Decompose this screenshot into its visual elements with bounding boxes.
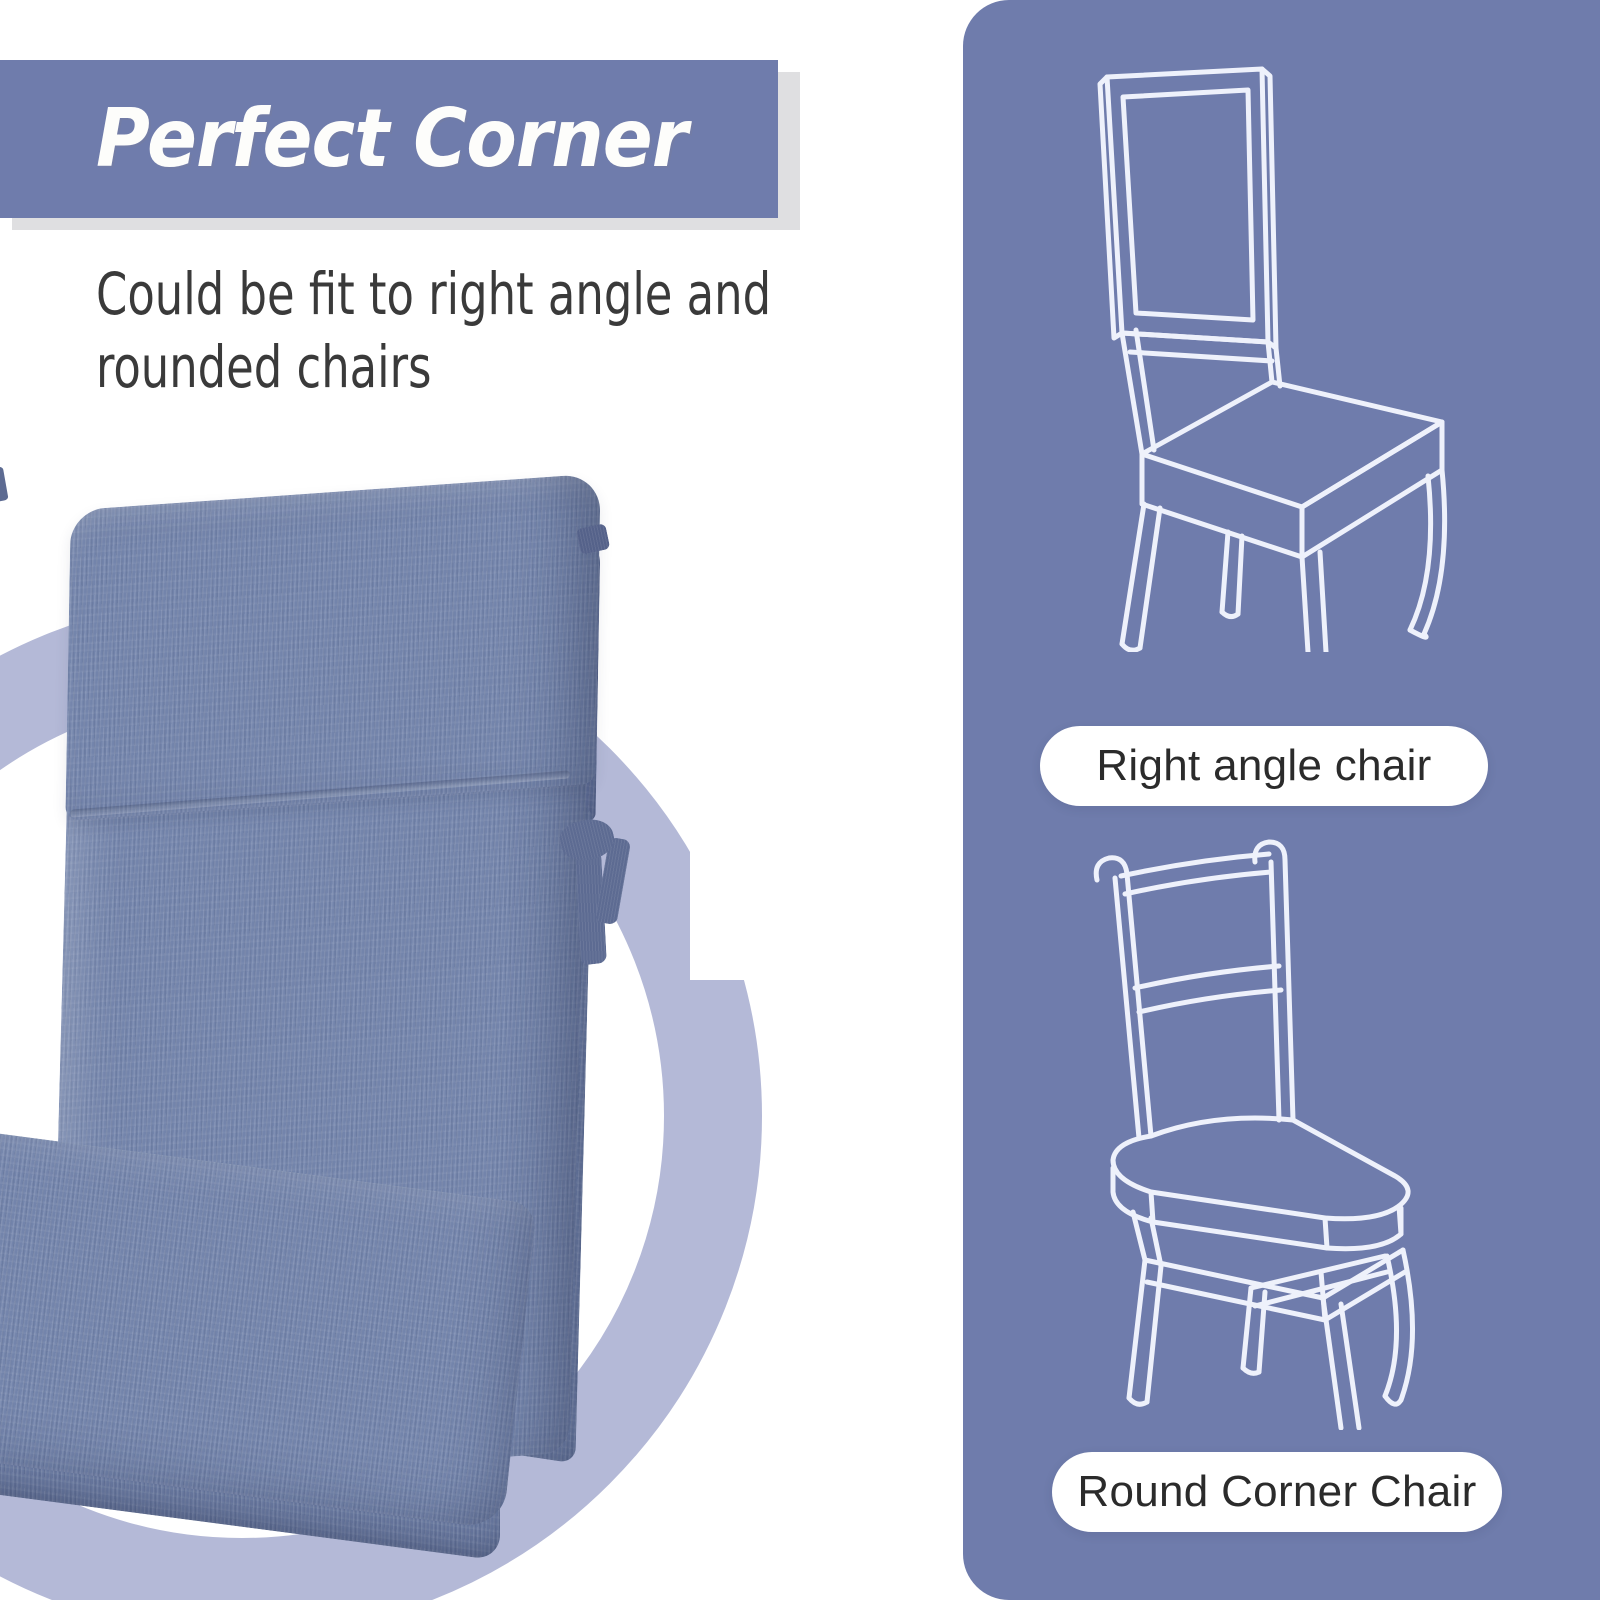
label-pill-right-angle-chair[interactable]: Right angle chair (1040, 726, 1488, 806)
tie-top-tab (576, 523, 611, 555)
ring-mask (690, 560, 890, 980)
right-angle-chair-icon (1050, 52, 1470, 652)
label-right-angle-chair: Right angle chair (1096, 741, 1431, 791)
tie-strap-left (0, 466, 9, 507)
product-cushion-image (0, 470, 700, 1520)
round-corner-chair-icon (1055, 820, 1485, 1430)
headrest-pillow (65, 473, 600, 821)
headline-banner: Perfect Corner (0, 60, 778, 218)
banner-title: Perfect Corner (96, 99, 687, 179)
infographic-canvas: Perfect Corner Could be fit to right ang… (0, 0, 1600, 1600)
label-round-corner-chair: Round Corner Chair (1077, 1467, 1476, 1517)
label-pill-round-corner-chair[interactable]: Round Corner Chair (1052, 1452, 1502, 1532)
subtitle-text: Could be fit to right angle and rounded … (96, 258, 818, 404)
